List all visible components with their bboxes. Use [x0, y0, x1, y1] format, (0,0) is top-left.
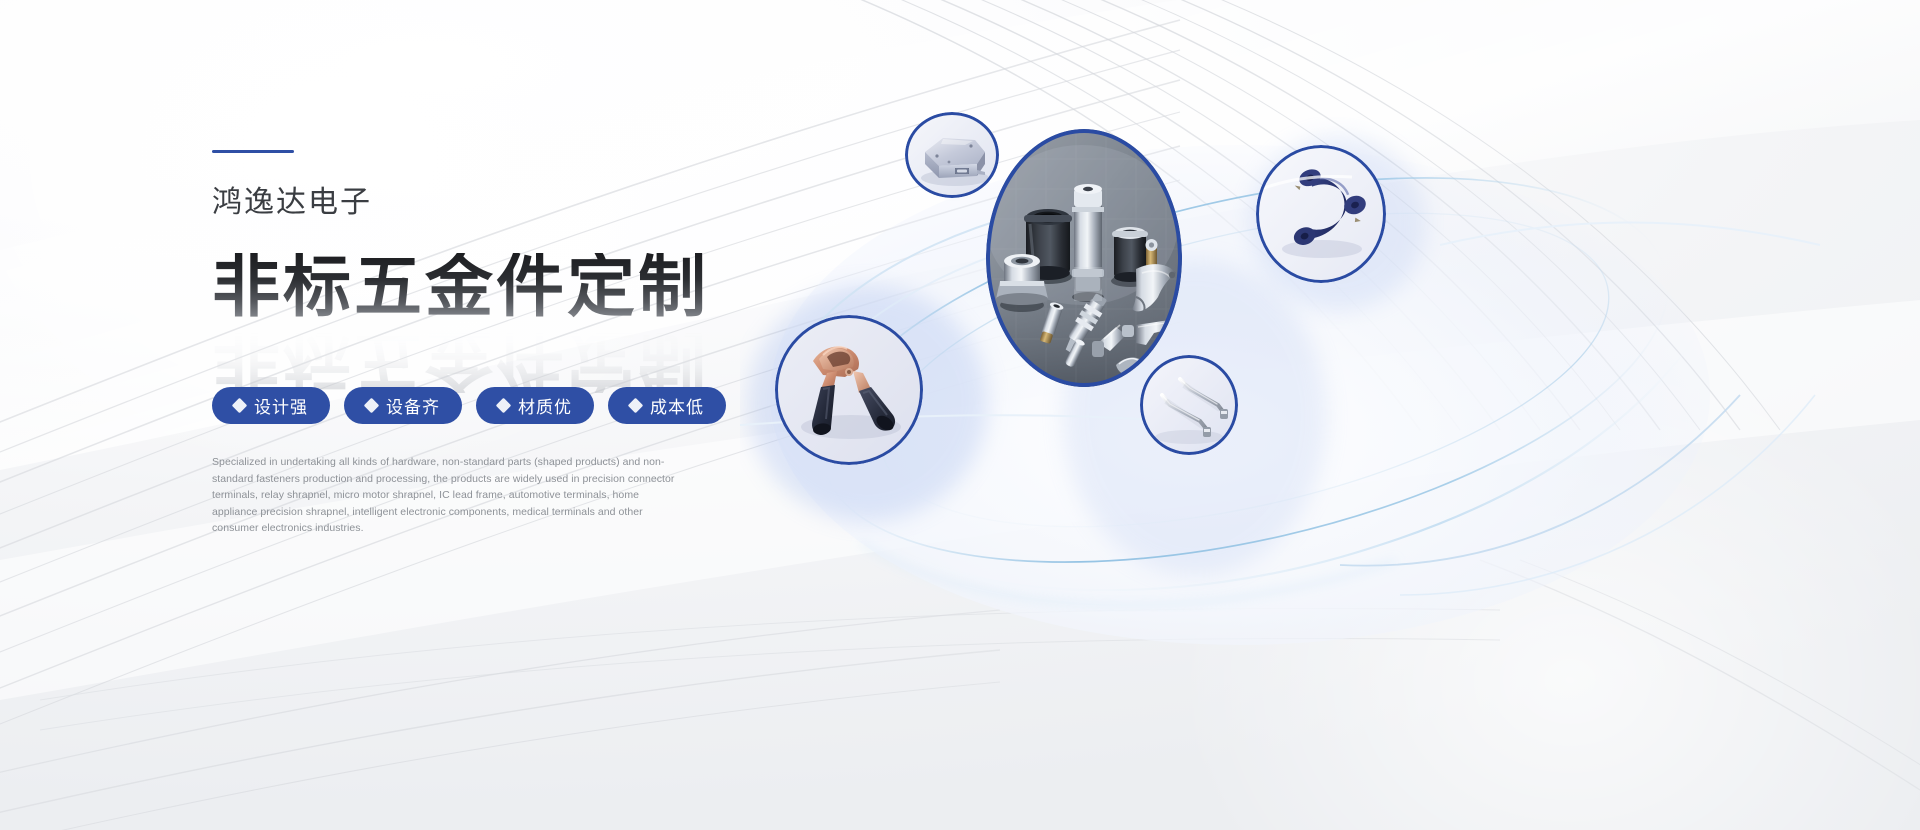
showcase-node-bent-metal-terminals[interactable]: 折弯金属端子: [1140, 355, 1238, 455]
feature-badge-equipment[interactable]: 设备齐: [344, 387, 462, 424]
diamond-icon: [232, 398, 248, 414]
feature-badge-label: 设备齐: [386, 393, 440, 418]
showcase-node-retaining-ring[interactable]: 蓝色卡簧挡圈: [1256, 145, 1386, 283]
copper-battery-clamp-image: [775, 315, 923, 465]
feature-badge-material[interactable]: 材质优: [476, 387, 594, 424]
stamped-metal-enclosure-image: [905, 112, 999, 198]
showcase-node-copper-battery-clamp[interactable]: 铜质电池夹: [775, 315, 923, 465]
precision-machined-parts-image: [986, 129, 1182, 387]
product-showcase: 冲压金属外壳: [740, 95, 1920, 655]
diamond-icon: [364, 398, 380, 414]
feature-badge-label: 材质优: [518, 393, 572, 418]
company-description: Specialized in undertaking all kinds of …: [212, 454, 682, 537]
showcase-node-precision-machined-parts[interactable]: 机加工精密五金零件组合: [986, 129, 1182, 387]
feature-badge-design[interactable]: 设计强: [212, 387, 330, 424]
bent-metal-terminals-image: [1140, 355, 1238, 455]
diamond-icon: [496, 398, 512, 414]
feature-badge-list: 设计强 设备齐 材质优 成本低: [212, 387, 726, 424]
hero-banner: 鸿逸达电子 非标五金件定制 非标五金件定制 设计强 设备齐 材质优 成本低: [0, 0, 1920, 830]
headline-reflection: 非标五金件定制: [212, 325, 709, 393]
diamond-icon: [628, 398, 644, 414]
showcase-node-stamped-metal-enclosure[interactable]: 冲压金属外壳: [905, 112, 999, 198]
feature-badge-label: 成本低: [650, 393, 704, 418]
feature-badge-cost[interactable]: 成本低: [608, 387, 726, 424]
feature-badge-label: 设计强: [254, 393, 308, 418]
retaining-ring-image: [1256, 145, 1386, 283]
accent-rule: [212, 150, 294, 153]
